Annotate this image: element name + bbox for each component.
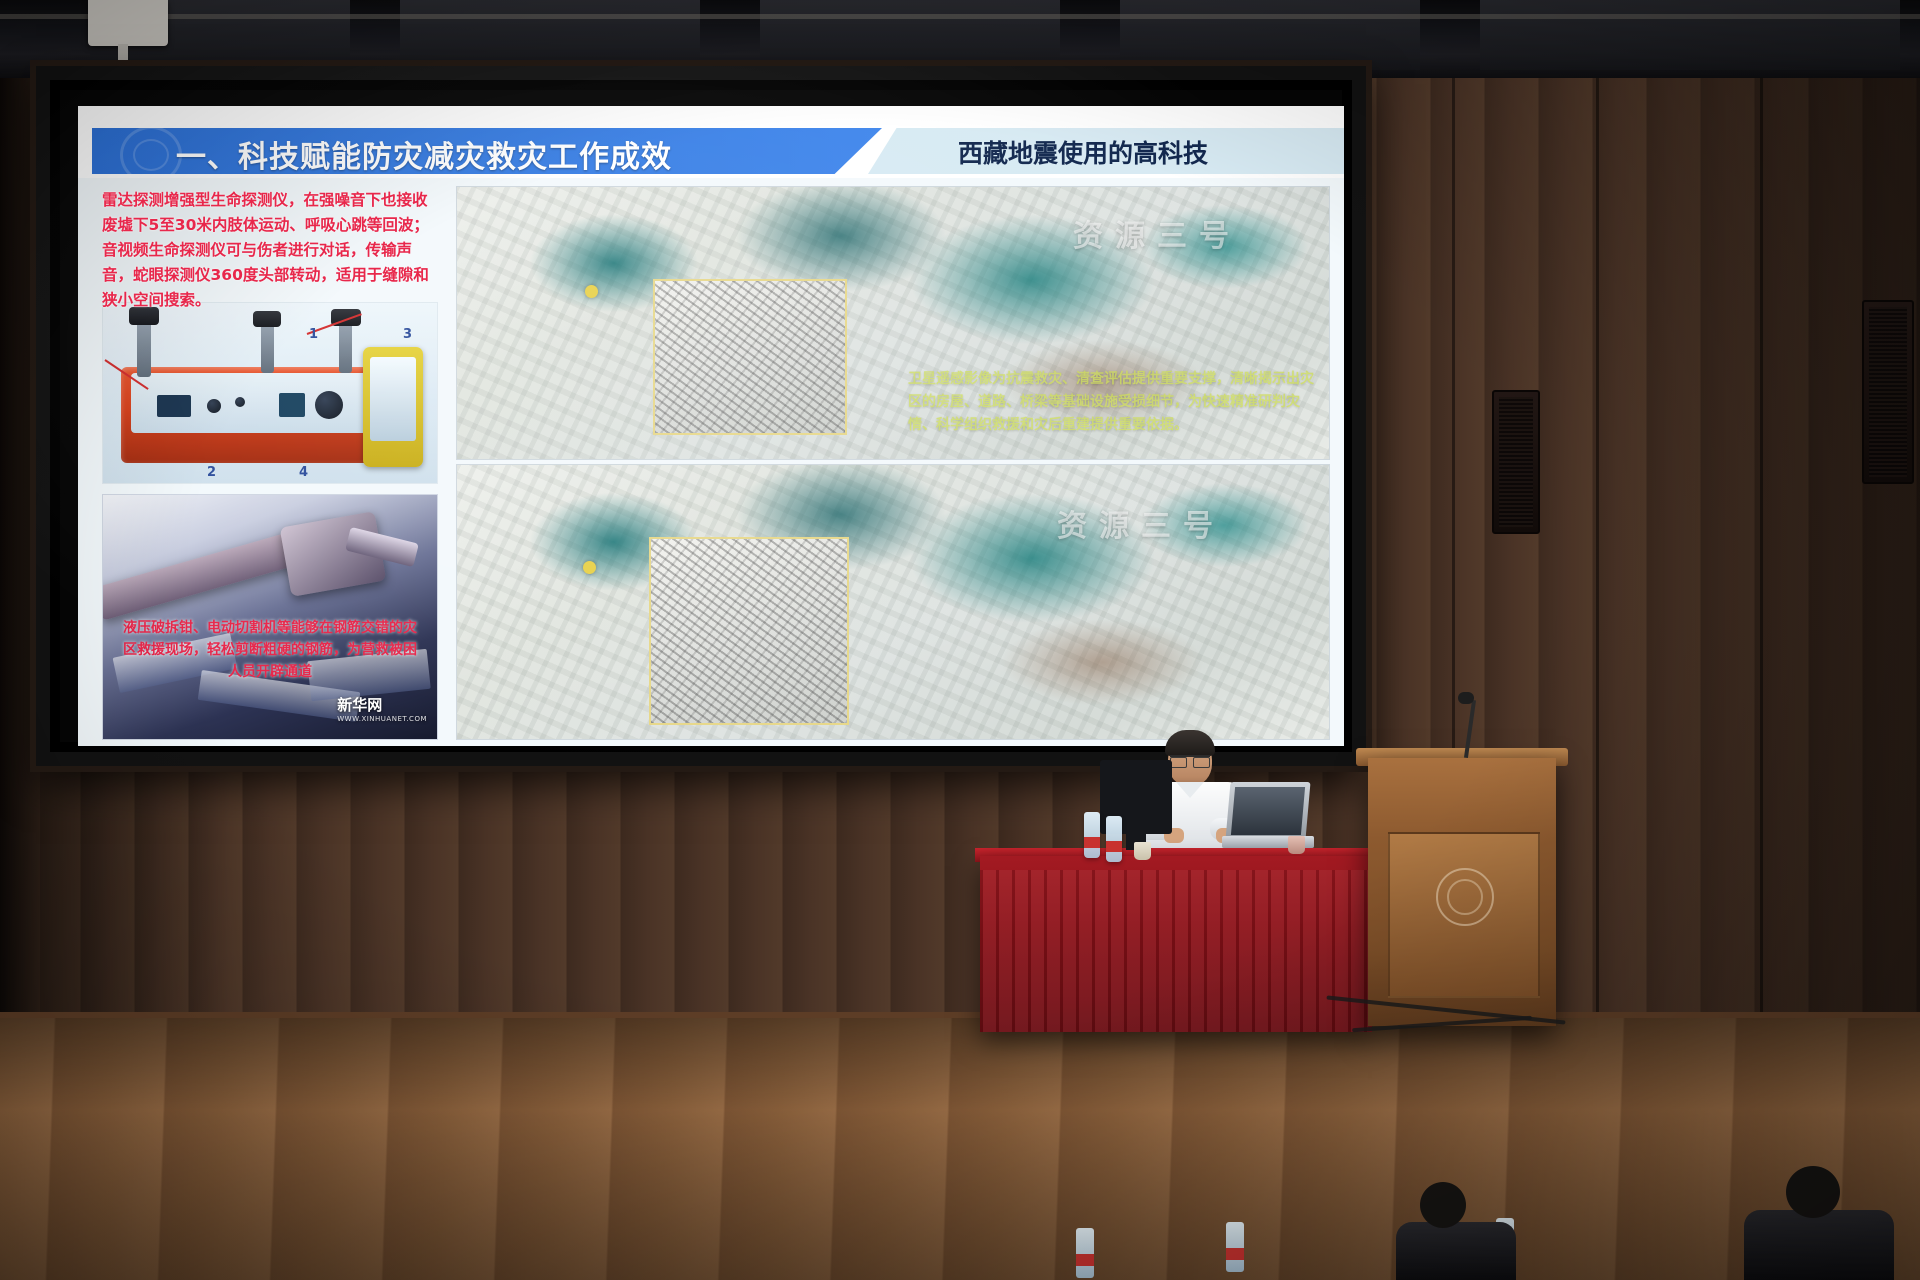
presentation-slide: 一、科技赋能防灾减灾救灾工作成效 西藏地震使用的高科技 雷达探测增强型生命探测仪… bbox=[78, 106, 1344, 746]
detector-probe-head bbox=[253, 311, 281, 327]
desk-cup[interactable] bbox=[1288, 836, 1305, 854]
ceiling-panel bbox=[1480, 0, 1900, 70]
presenter-table-skirt bbox=[980, 870, 1372, 1032]
callout-number-3: 3 bbox=[403, 327, 412, 342]
floor-water-bottle[interactable] bbox=[1226, 1222, 1244, 1272]
equipment-display bbox=[157, 395, 191, 417]
equipment-module bbox=[279, 393, 305, 417]
header-seal-watermark bbox=[120, 126, 182, 184]
slide-title: 一、科技赋能防灾减灾救灾工作成效 bbox=[176, 132, 876, 176]
satellite-inset-zoom bbox=[653, 279, 847, 435]
equipment-knob bbox=[235, 397, 245, 407]
xinhua-watermark-text: 新华网 bbox=[337, 696, 382, 714]
university-emblem-icon bbox=[1436, 868, 1494, 926]
xinhua-watermark: 新华网 WWW.XINHUANET.COM bbox=[337, 694, 427, 723]
ceiling-rail bbox=[0, 14, 1920, 19]
satellite-marker-dot bbox=[585, 285, 598, 298]
wall-speaker bbox=[1492, 390, 1540, 534]
desk-cup[interactable] bbox=[1134, 842, 1151, 860]
ceiling-panel bbox=[760, 0, 1060, 70]
wall-speaker bbox=[1862, 300, 1914, 484]
slide-left-column: 雷达探测增强型生命探测仪，在强噪音下也接收废墟下5至30米内肢体运动、呼吸心跳等… bbox=[92, 182, 444, 738]
satellite-marker-dot bbox=[583, 561, 596, 574]
callout-number-2: 2 bbox=[207, 465, 216, 480]
equipment-dial bbox=[315, 391, 343, 419]
microphone-icon bbox=[1458, 692, 1474, 704]
wall-seam bbox=[1596, 78, 1599, 1038]
audience-member bbox=[1396, 1222, 1516, 1280]
audience-member-head bbox=[1420, 1182, 1466, 1228]
water-bottle-desk[interactable] bbox=[1106, 816, 1122, 862]
detector-probe-arm bbox=[261, 319, 274, 373]
rescue-photo-caption: 液压破拆钳、电动切割机等能够在钢筋交错的灾区救援现场，轻松剪断粗硬的钢筋，为营救… bbox=[117, 617, 423, 683]
satellite-watermark: 资源三号 bbox=[1073, 211, 1241, 255]
wall-seam bbox=[1760, 78, 1763, 1038]
presenter-glasses bbox=[1170, 755, 1210, 766]
equipment-knob bbox=[207, 399, 221, 413]
audience-member-head bbox=[1786, 1166, 1840, 1218]
satellite-watermark: 资源三号 bbox=[1057, 501, 1225, 545]
water-bottle-desk[interactable] bbox=[1084, 812, 1100, 858]
callout-number-4: 4 bbox=[299, 465, 308, 480]
lecture-hall-scene: 一、科技赋能防灾减灾救灾工作成效 西藏地震使用的高科技 雷达探测增强型生命探测仪… bbox=[0, 0, 1920, 1280]
ceiling-panel bbox=[400, 0, 700, 70]
ceiling-panel bbox=[1120, 0, 1420, 70]
slide-right-column: 资源三号 资源三号 卫星遥感影像为抗震救灾、清查评估提供重要支撑，清晰揭示出灾区… bbox=[456, 182, 1330, 738]
slide-body: 雷达探测增强型生命探测仪，在强噪音下也接收废墟下5至30米内肢体运动、呼吸心跳等… bbox=[78, 178, 1344, 746]
projector-mount bbox=[88, 0, 168, 46]
satellite-analysis-text: 卫星遥感影像为抗震救灾、清查评估提供重要支撑，清晰揭示出灾区的房屋、道路、桥梁等… bbox=[908, 368, 1324, 437]
life-detector-equipment-photo: 1 2 3 4 bbox=[102, 302, 438, 484]
detector-tablet bbox=[363, 347, 423, 467]
floor-shading bbox=[0, 1018, 1920, 1280]
slide-header: 一、科技赋能防灾减灾救灾工作成效 西藏地震使用的高科技 bbox=[78, 106, 1344, 178]
projection-screen: 一、科技赋能防灾减灾救灾工作成效 西藏地震使用的高科技 雷达探测增强型生命探测仪… bbox=[36, 66, 1366, 766]
left-wall-shadow bbox=[0, 0, 40, 1030]
satellite-inset-zoom bbox=[649, 537, 849, 725]
hydraulic-cutter-rescue-photo: 液压破拆钳、电动切割机等能够在钢筋交错的灾区救援现场，轻松剪断粗硬的钢筋，为营救… bbox=[102, 494, 438, 740]
audience-member bbox=[1744, 1210, 1894, 1280]
radar-description-text: 雷达探测增强型生命探测仪，在强噪音下也接收废墟下5至30米内肢体运动、呼吸心跳等… bbox=[102, 188, 436, 313]
slide-subtitle: 西藏地震使用的高科技 bbox=[958, 134, 1338, 170]
satellite-image-after: 资源三号 bbox=[456, 464, 1330, 740]
laptop-screen[interactable] bbox=[1231, 787, 1305, 835]
xinhua-watermark-url: WWW.XINHUANET.COM bbox=[337, 715, 427, 723]
floor-water-bottle[interactable] bbox=[1076, 1228, 1094, 1278]
callout-number-1: 1 bbox=[309, 327, 318, 342]
